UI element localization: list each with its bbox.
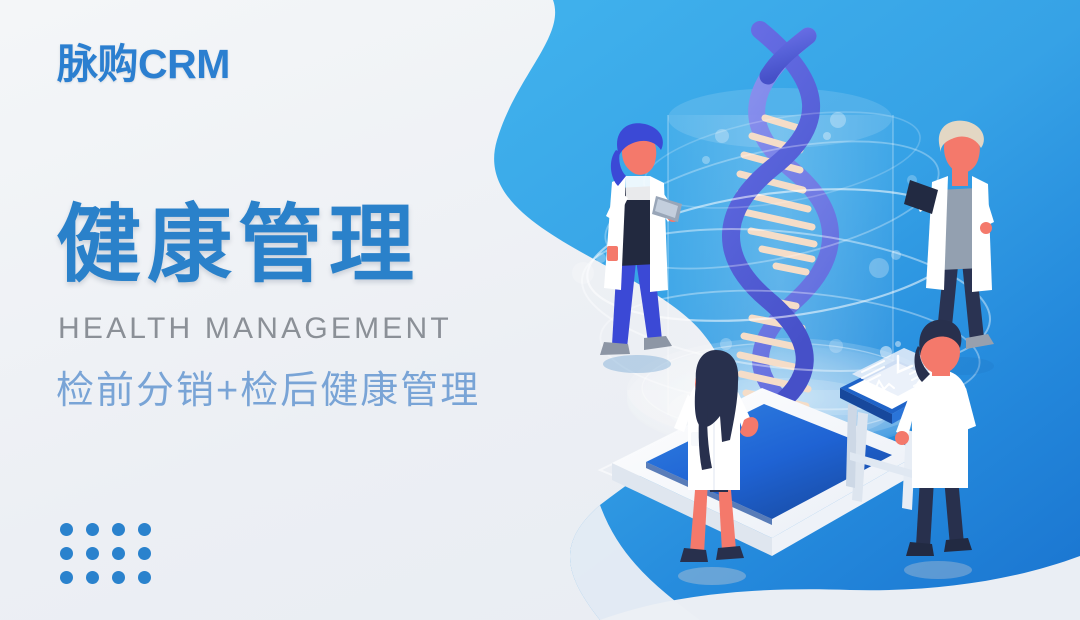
dot (86, 523, 99, 536)
health-management-banner: 脉购CRM 健康管理 HEALTH MANAGEMENT 检前分销+检后健康管理 (0, 0, 1080, 620)
dot (138, 523, 151, 536)
page-subtitle: HEALTH MANAGEMENT (58, 314, 452, 344)
dot (60, 571, 73, 584)
text-content-column: 脉购CRM 健康管理 HEALTH MANAGEMENT 检前分销+检后健康管理 (0, 0, 560, 620)
dot (112, 571, 125, 584)
page-tagline: 检前分销+检后健康管理 (56, 372, 480, 410)
dot (138, 547, 151, 560)
dot (60, 547, 73, 560)
dot (86, 547, 99, 560)
dot (138, 571, 151, 584)
dot (60, 523, 73, 536)
dot (112, 547, 125, 560)
brand-logo[interactable]: 脉购CRM (57, 44, 230, 85)
dot-grid-decoration (60, 523, 151, 584)
page-title: 健康管理 (56, 203, 420, 288)
dot (86, 571, 99, 584)
dot (112, 523, 125, 536)
